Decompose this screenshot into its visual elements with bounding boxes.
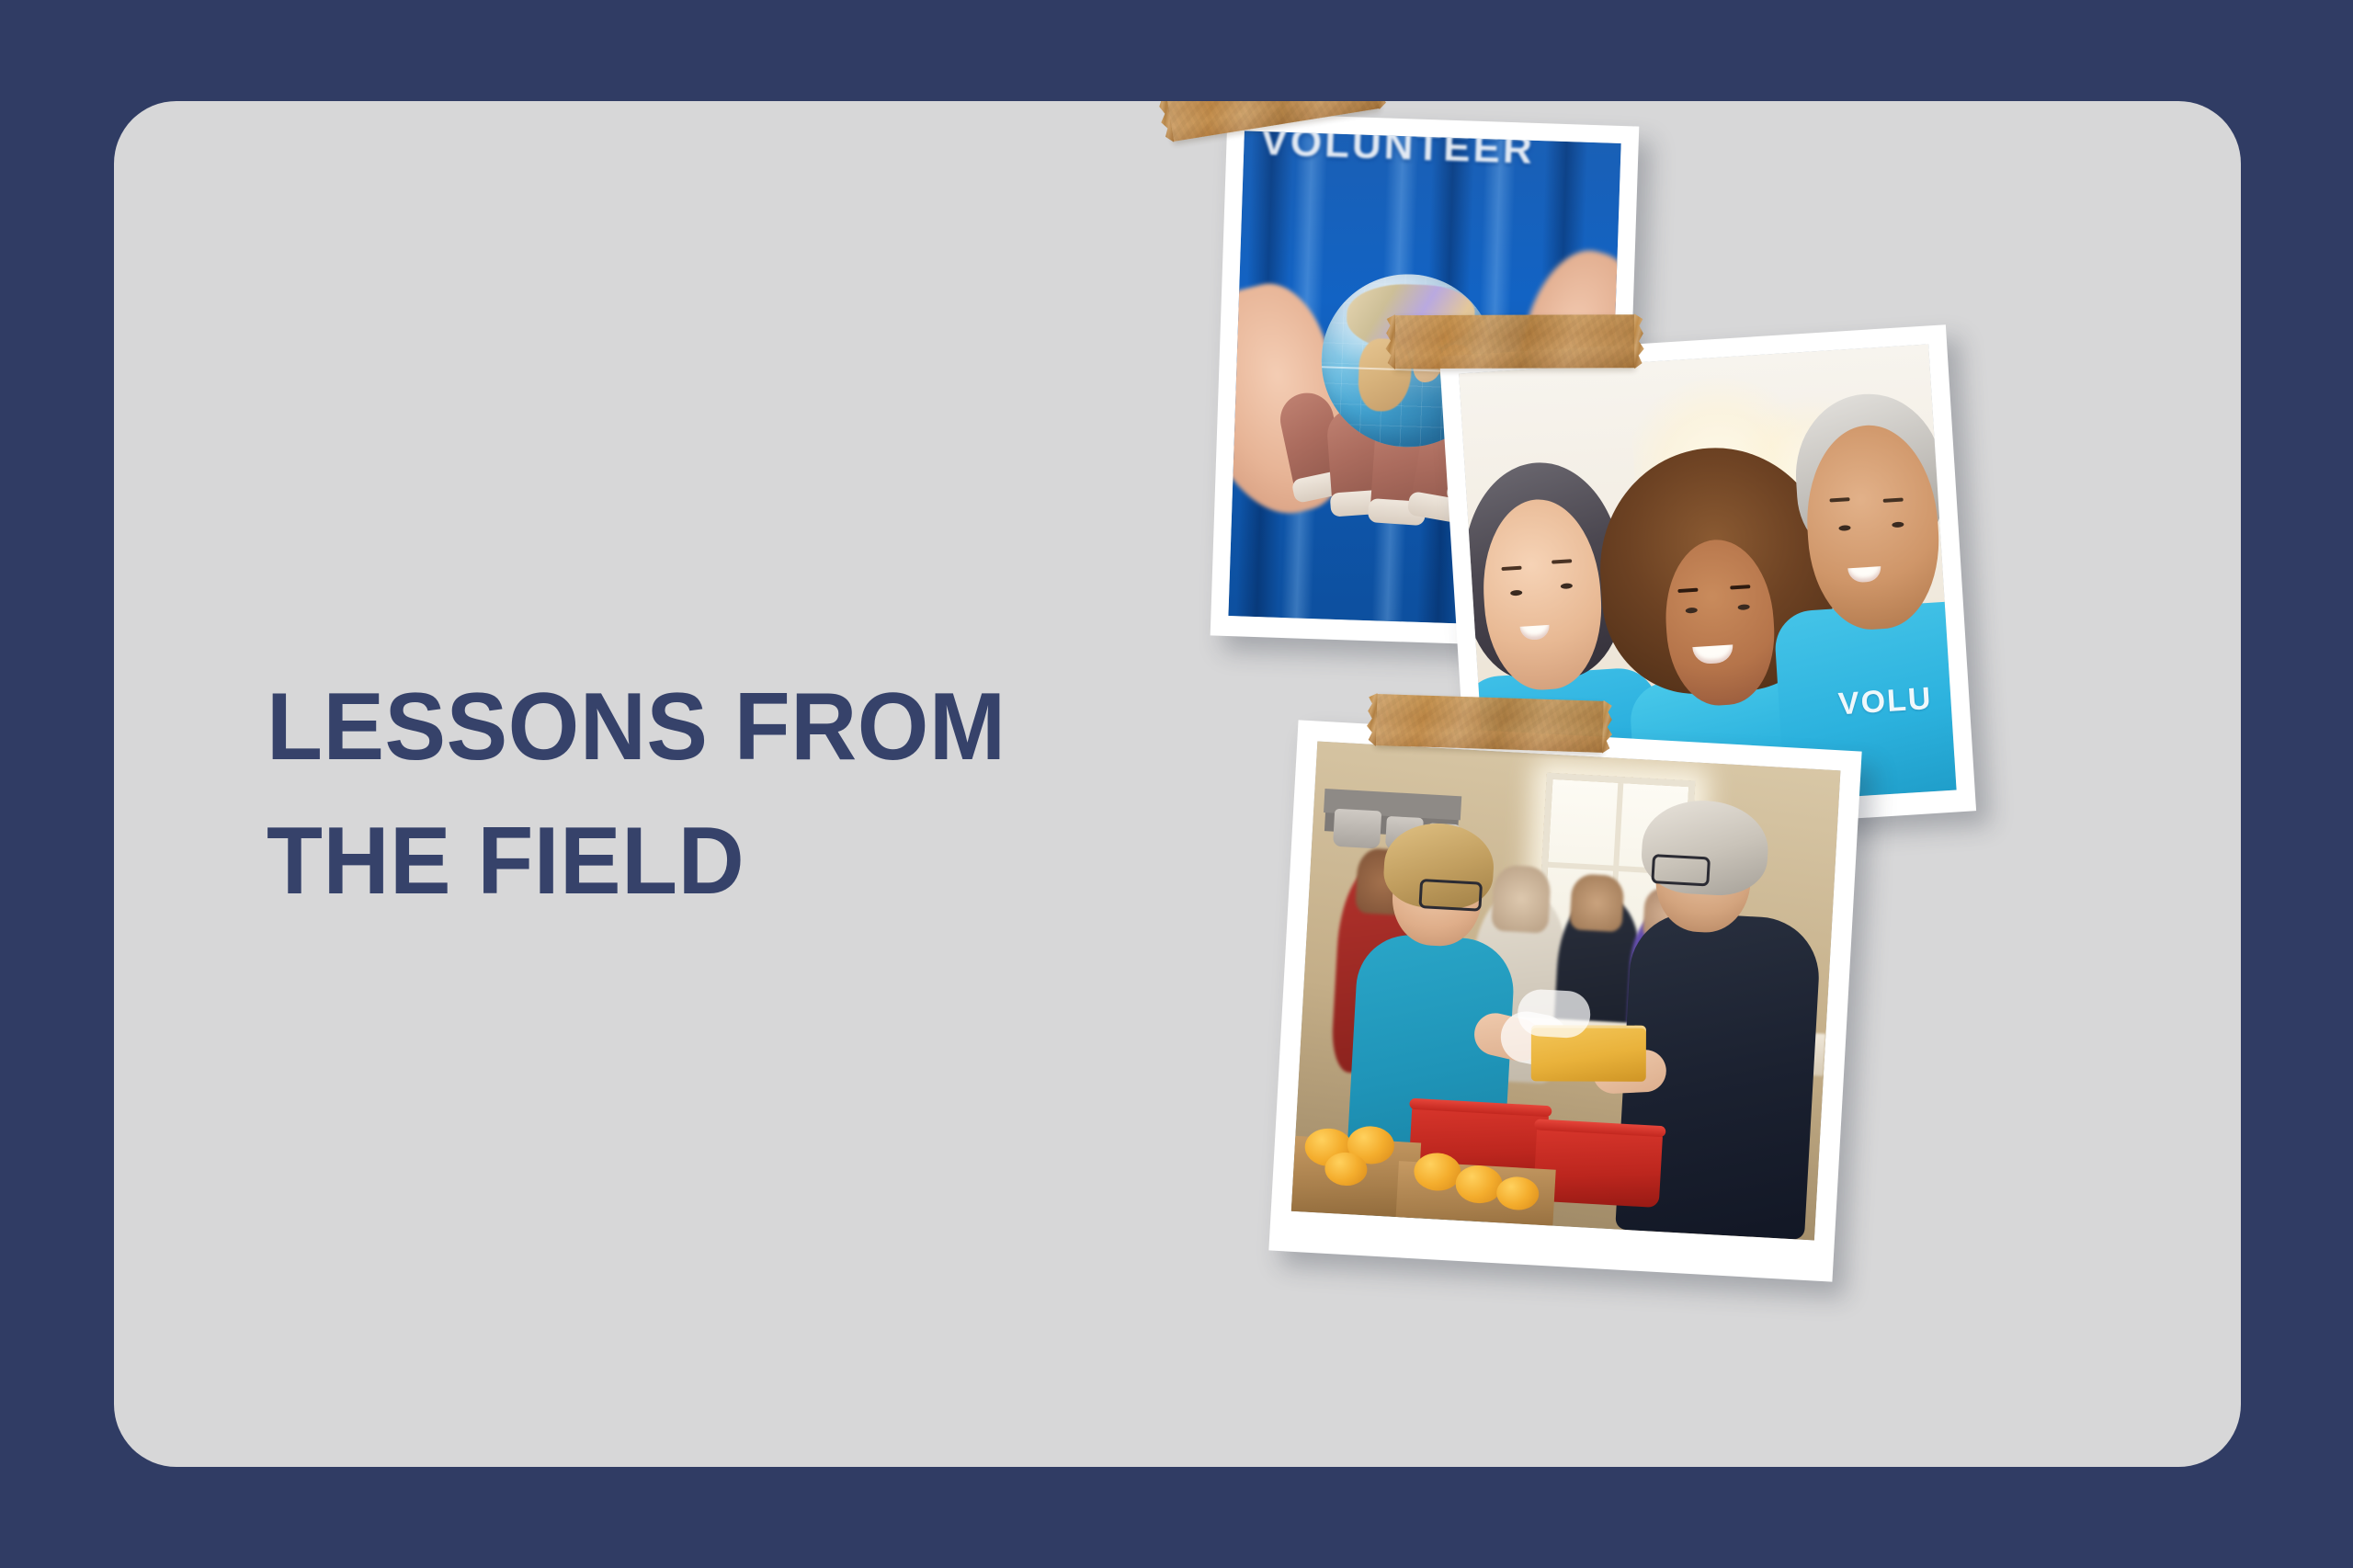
photo-food-bank: [1291, 742, 1841, 1241]
page-title: LESSONS FROM THE FIELD: [267, 660, 1204, 928]
slide-canvas: LESSONS FROM THE FIELD VOLUNTEER: [0, 0, 2353, 1568]
shirt-text-right: VOLU: [1837, 681, 1934, 722]
washi-tape-3: [1375, 694, 1605, 753]
washi-tape-2: [1394, 314, 1635, 369]
content-card: LESSONS FROM THE FIELD VOLUNTEER: [114, 101, 2241, 1467]
page-title-line-1: LESSONS FROM: [267, 660, 1166, 794]
page-title-line-2: THE FIELD: [267, 794, 1166, 928]
photo-frame-food-bank: [1268, 720, 1861, 1281]
photo-collage: VOLUNTEER: [1199, 101, 2241, 1467]
